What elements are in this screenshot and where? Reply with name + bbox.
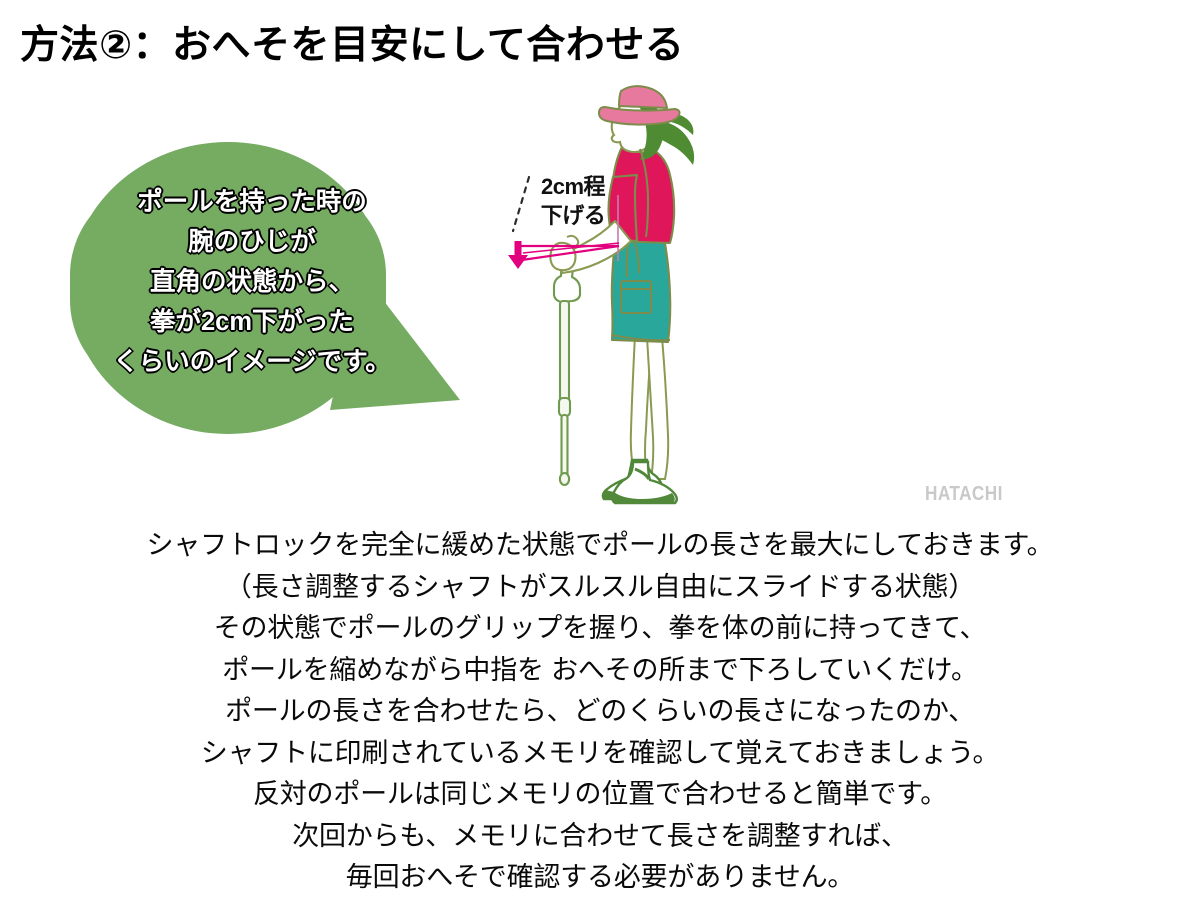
- pole-tip: [560, 473, 569, 485]
- body-line-9: 毎回おへそで確認する必要がありません。: [0, 857, 1200, 899]
- drop-arrow-head-icon: [508, 255, 528, 269]
- front-leg: [647, 337, 668, 479]
- annotation-line-2: 下げる: [518, 201, 628, 230]
- speech-bubble-line-5: くらいのイメージです。: [82, 342, 422, 382]
- body-line-1: シャフトロックを完全に緩めた状態でポールの長さを最大にしておきます。: [0, 525, 1200, 567]
- hat-brim: [599, 107, 680, 125]
- cargo-pocket: [621, 281, 651, 313]
- pole-shaft-lower: [562, 415, 568, 477]
- body-line-2: （長さ調整するシャフトがスルスル自由にスライドする状態）: [0, 567, 1200, 609]
- body-line-8: 次回からも、メモリに合わせて長さを調整すれば、: [0, 816, 1200, 858]
- body-line-3: その状態でポールのグリップを握り、拳を体の前に持ってきて、: [0, 608, 1200, 650]
- speech-bubble-line-1: ポールを持った時の: [82, 182, 422, 222]
- speech-bubble-text: ポールを持った時の 腕のひじが 直角の状態から、 拳が2cm下がった くらいのイ…: [82, 182, 422, 382]
- speech-bubble-line-3: 直角の状態から、: [82, 262, 422, 302]
- body-line-4: ポールを縮めながら中指を おへその所まで下ろしていくだけ。: [0, 650, 1200, 692]
- annotation-line-1: 2cm程: [518, 172, 628, 201]
- speech-bubble-line-2: 腕のひじが: [82, 222, 422, 262]
- shorts-group: [612, 238, 670, 342]
- speech-bubble-line-4: 拳が2cm下がった: [82, 302, 422, 342]
- hatachi-brand-logo: HATACHI: [925, 483, 1003, 506]
- hat-crown: [619, 86, 667, 108]
- legs-group: [631, 335, 668, 479]
- walker-figure-svg: [485, 85, 745, 525]
- body-text-block: シャフトロックを完全に緩めた状態でポールの長さを最大にしておきます。 （長さ調整…: [0, 525, 1200, 899]
- head-group: [599, 86, 694, 165]
- illustration-figure: [485, 85, 745, 525]
- body-line-7: 反対のポールは同じメモリの位置で合わせると簡単です。: [0, 774, 1200, 816]
- speech-bubble: ポールを持った時の 腕のひじが 直角の状態から、 拳が2cm下がった くらいのイ…: [60, 120, 490, 470]
- body-line-5: ポールの長さを合わせたら、どのくらいの長さになったのか、: [0, 691, 1200, 733]
- pole-shaft-upper: [560, 301, 569, 411]
- body-line-6: シャフトに印刷されているメモリを確認して覚えておきましょう。: [0, 733, 1200, 775]
- page-title: 方法②：おへそを目安にして合わせる: [20, 14, 684, 70]
- measurement-annotation-text: 2cm程 下げる: [518, 172, 628, 230]
- trekking-pole-icon: [554, 246, 580, 485]
- pole-shaft-lock: [559, 398, 570, 416]
